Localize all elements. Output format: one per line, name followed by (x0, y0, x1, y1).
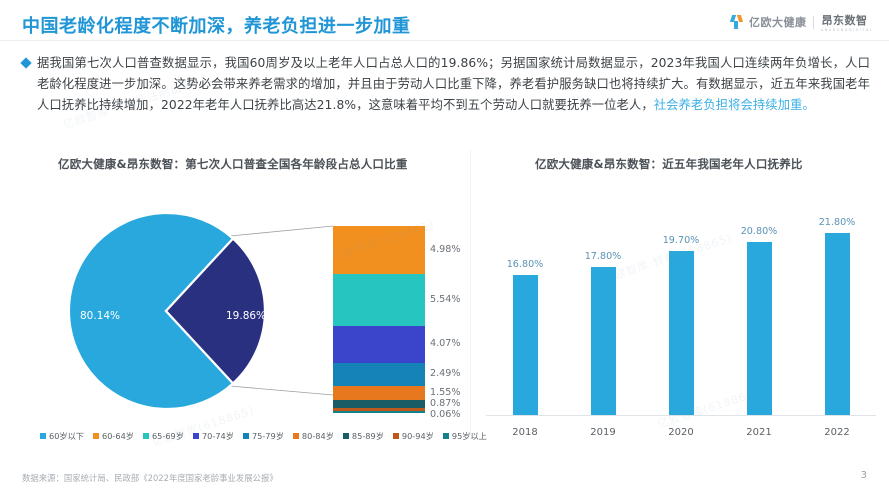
bar-rect (825, 233, 850, 415)
legend-item[interactable]: 75-79岁 (243, 430, 284, 442)
summary-paragraph-text: 据我国第七次人口普查数据显示，我国60周岁及以上老年人口占总人口的19.86%；… (37, 53, 870, 116)
bar-value-label: 16.80% (507, 259, 544, 270)
legend-swatch-icon (443, 433, 449, 439)
left-chart-title: 亿欧大健康&昂东数智：第七次人口普查全国各年龄段占总人口比重 (58, 156, 408, 172)
leader-line-bottom (230, 386, 333, 395)
page-number: 3 (861, 470, 867, 481)
legend-swatch-icon (40, 433, 46, 439)
legend-item[interactable]: 80-84岁 (293, 430, 334, 442)
stack-segment-label: 0.06% (430, 409, 460, 420)
stack-segment: 4.98% (333, 226, 425, 274)
logo-secondary-label: 昂东数智 A N G D O N G D I G I T A L (821, 12, 875, 32)
brand-logo: 亿欧大健康 昂东数智 A N G D O N G D I G I T A L (731, 12, 875, 32)
stack-segment-label: 0.87% (430, 398, 460, 409)
stack-segment-label: 4.98% (430, 244, 460, 255)
legend-swatch-icon (393, 433, 399, 439)
stack-segment (333, 411, 425, 413)
logo-primary-label: 亿欧大健康 (749, 14, 807, 30)
bar-rect (591, 267, 616, 415)
bar-chart-panel: 16.80% 17.80% 19.70% 20.80% 21.80% 2018 (486, 192, 876, 442)
logo-separator (813, 16, 814, 29)
legend-item[interactable]: 95岁以上 (443, 430, 487, 442)
bar-column[interactable]: 21.80% (798, 215, 876, 415)
panel-divider (470, 150, 471, 436)
stack-segment-label: 5.54% (430, 294, 460, 305)
stack-segment: 2.49% (333, 363, 425, 386)
legend-swatch-icon (293, 433, 299, 439)
x-tick-label: 2022 (798, 427, 876, 438)
stack-segment: 5.54% (333, 274, 425, 326)
legend-swatch-icon (243, 433, 249, 439)
stack-segment-label: 1.55% (430, 387, 460, 398)
legend-label: 80-84岁 (302, 430, 334, 442)
legend-label: 65-69岁 (152, 430, 184, 442)
bar-chart-x-tick-labels: 2018 2019 2020 2021 2022 (486, 427, 876, 438)
slide: 中国老龄化程度不断加深，养老负担进一步加重 亿欧大健康 昂东数智 A N G D… (0, 0, 889, 500)
leader-line-top (230, 226, 333, 236)
exploded-stacked-bar: 4.98% 5.54% 4.07% 2.49% 1.55% 0.87% 0.06… (333, 226, 425, 413)
logo-mark-icon (731, 15, 742, 29)
legend-item[interactable]: 60岁以下 (40, 430, 84, 442)
summary-paragraph: 据我国第七次人口普查数据显示，我国60周岁及以上老年人口占总人口的19.86%；… (22, 53, 870, 116)
legend-swatch-icon (193, 433, 199, 439)
x-tick-label: 2021 (720, 427, 798, 438)
data-source-note: 数据来源：国家统计局、民政部《2022年度国家老龄事业发展公报》 (22, 472, 278, 484)
legend-label: 95岁以上 (452, 430, 487, 442)
legend-swatch-icon (343, 433, 349, 439)
stack-segment-label: 4.07% (430, 338, 460, 349)
legend-item[interactable]: 60-64岁 (93, 430, 134, 442)
bar-column[interactable]: 20.80% (720, 215, 798, 415)
legend-item[interactable]: 65-69岁 (143, 430, 184, 442)
pie-legend: 60岁以下 60-64岁 65-69岁 70-74岁 75-79岁 80-84岁… (40, 430, 460, 442)
bar-value-label: 21.80% (819, 217, 856, 228)
bar-value-label: 19.70% (663, 235, 700, 246)
legend-item[interactable]: 70-74岁 (193, 430, 234, 442)
stack-segment: 4.07% (333, 326, 425, 363)
pie-label-over60: 19.86% (226, 310, 266, 322)
legend-label: 75-79岁 (252, 430, 284, 442)
bar-rect (513, 275, 538, 415)
stack-segment: 1.55% (333, 386, 425, 400)
header-divider (0, 40, 889, 41)
legend-swatch-icon (143, 433, 149, 439)
legend-item[interactable]: 90-94岁 (393, 430, 434, 442)
legend-label: 90-94岁 (402, 430, 434, 442)
legend-swatch-icon (93, 433, 99, 439)
bar-value-label: 20.80% (741, 226, 778, 237)
legend-label: 70-74岁 (202, 430, 234, 442)
bar-column[interactable]: 19.70% (642, 215, 720, 415)
x-tick-label: 2018 (486, 427, 564, 438)
stack-segment: 0.87% (333, 400, 425, 408)
bar-rect (747, 242, 772, 415)
bar-rect (669, 251, 694, 415)
bar-chart-x-axis (486, 415, 876, 416)
x-tick-label: 2020 (642, 427, 720, 438)
legend-label: 60-64岁 (102, 430, 134, 442)
bar-column[interactable]: 16.80% (486, 215, 564, 415)
x-tick-label: 2019 (564, 427, 642, 438)
pie-label-under60: 80.14% (80, 310, 120, 322)
bar-series: 16.80% 17.80% 19.70% 20.80% 21.80% (486, 215, 876, 415)
legend-label: 85-89岁 (352, 430, 384, 442)
paragraph-highlight: 社会养老负担将会持续加重。 (654, 98, 815, 112)
page-title: 中国老龄化程度不断加深，养老负担进一步加重 (22, 12, 411, 38)
diamond-bullet-icon (20, 57, 31, 68)
legend-label: 60岁以下 (49, 430, 84, 442)
bar-value-label: 17.80% (585, 251, 622, 262)
bar-column[interactable]: 17.80% (564, 215, 642, 415)
logo-secondary-text: 昂东数智 (821, 14, 867, 27)
stack-segment-label: 2.49% (430, 368, 460, 379)
legend-item[interactable]: 85-89岁 (343, 430, 384, 442)
logo-secondary-subtext: A N G D O N G D I G I T A L (821, 28, 872, 32)
pie-chart-panel: 80.14% 19.86% 4.98% 5.54% 4.07% 2.49% 1.… (18, 188, 458, 440)
right-chart-title: 亿欧大健康&昂东数智：近五年我国老年人口抚养比 (535, 156, 803, 172)
